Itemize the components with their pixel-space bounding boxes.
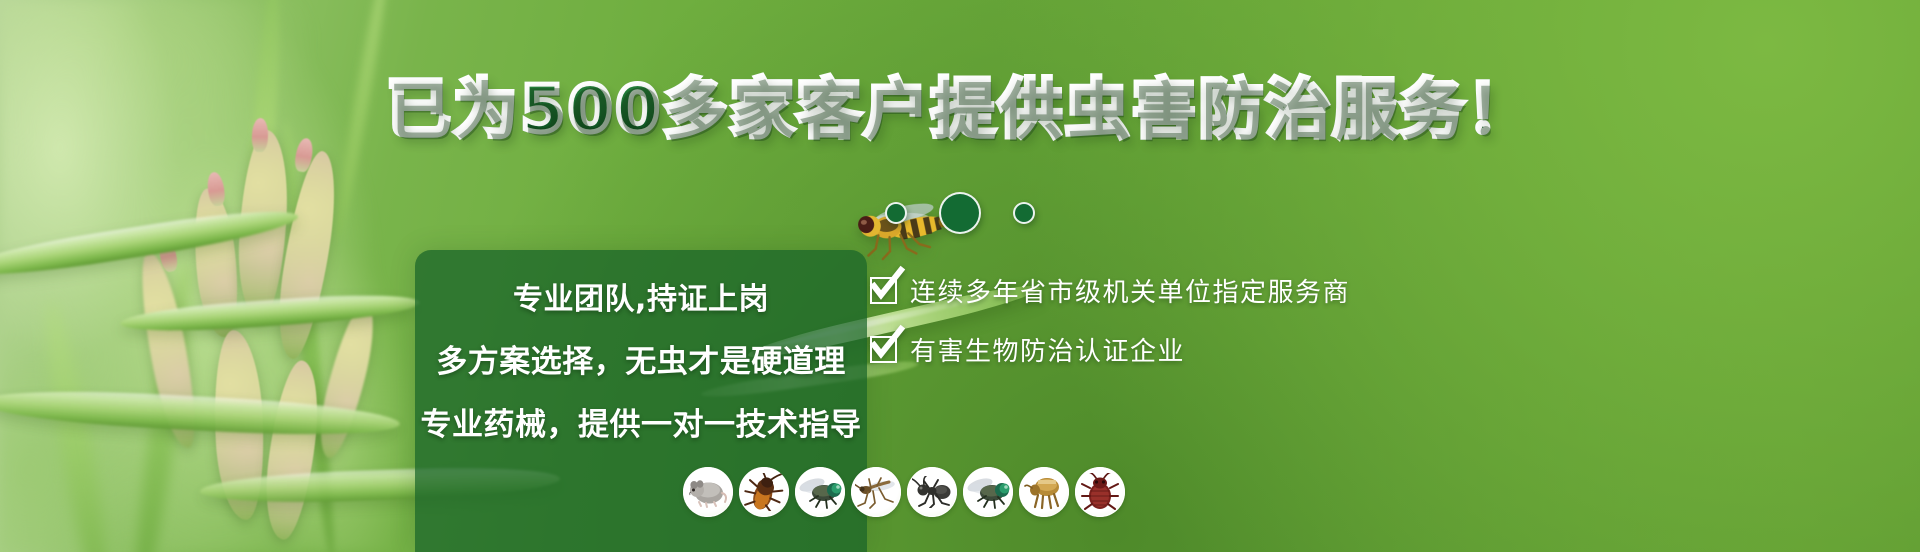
decorative-dot-right bbox=[1013, 202, 1035, 224]
mosquito-icon bbox=[855, 475, 897, 509]
selling-point-line-1: 专业团队,持证上岗 bbox=[513, 274, 769, 318]
decorative-dot-group bbox=[0, 192, 1920, 234]
pest-icon-fly-2[interactable] bbox=[963, 467, 1013, 517]
cockroach-icon bbox=[744, 473, 784, 511]
pest-icon-mosquito[interactable] bbox=[851, 467, 901, 517]
selling-point-line-3: 专业药械，提供一对一技术指导 bbox=[421, 399, 862, 444]
selling-point-line-2: 多方案选择，无虫才是硬道理 bbox=[436, 336, 846, 381]
decorative-dot-left bbox=[885, 202, 907, 224]
credential-list: 连续多年省市级机关单位指定服务商 有害生物防治认证企业 bbox=[870, 272, 1350, 368]
decorative-dot-center bbox=[939, 192, 981, 234]
banner-headline-text: 已为500多家客户提供虫害防治服务！ bbox=[386, 73, 1534, 147]
pest-icon-bedbug[interactable] bbox=[1075, 467, 1125, 517]
credential-item-1: 连续多年省市级机关单位指定服务商 bbox=[870, 272, 1350, 309]
credential-label-1: 连续多年省市级机关单位指定服务商 bbox=[910, 272, 1350, 309]
banner-headline: 已为500多家客户提供虫害防治服务！ bbox=[0, 78, 1920, 142]
credential-label-2: 有害生物防治认证企业 bbox=[910, 331, 1185, 368]
mouse-icon bbox=[687, 475, 729, 509]
check-square-icon bbox=[870, 336, 897, 363]
pest-control-hero-banner: 已为500多家客户提供虫害防治服务！ 专业团队,持证上岗 多方案选择，无虫才是硬… bbox=[0, 0, 1920, 552]
pest-icon-row bbox=[683, 467, 1125, 517]
pest-icon-fly[interactable] bbox=[795, 467, 845, 517]
fly-icon bbox=[798, 475, 842, 509]
bedbug-icon bbox=[1081, 473, 1119, 511]
pest-icon-cockroach[interactable] bbox=[739, 467, 789, 517]
pest-icon-ant[interactable] bbox=[907, 467, 957, 517]
flea-icon bbox=[1024, 474, 1064, 510]
fly-icon-2 bbox=[966, 475, 1010, 509]
pest-icon-mouse[interactable] bbox=[683, 467, 733, 517]
pest-icon-flea[interactable] bbox=[1019, 467, 1069, 517]
ant-icon bbox=[912, 476, 952, 508]
check-square-icon bbox=[870, 277, 897, 304]
credential-item-2: 有害生物防治认证企业 bbox=[870, 331, 1350, 368]
